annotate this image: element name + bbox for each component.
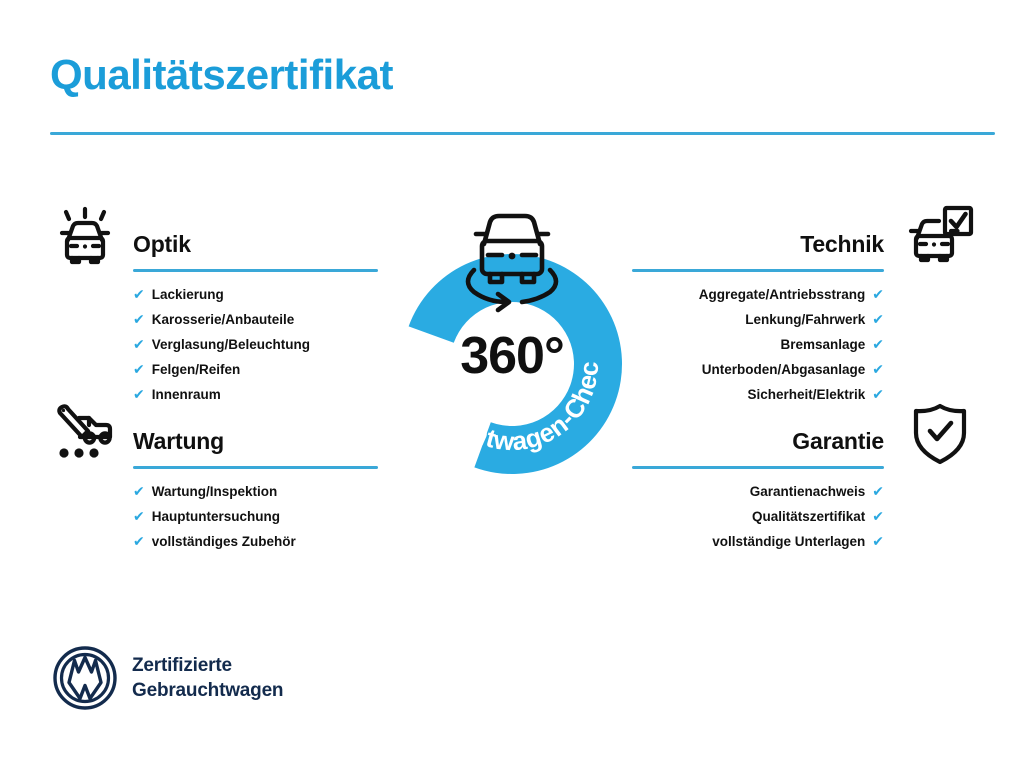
badge-number: 360°	[376, 330, 648, 382]
check-icon: ✔	[133, 529, 145, 553]
section-technik: Technik Aggregate/Antriebsstrang ✔ Lenku…	[632, 200, 977, 407]
list-item-label: vollständige Unterlagen	[712, 530, 865, 554]
section-garantie: Garantie Garantienachweis ✔ Qualitätszer…	[632, 397, 977, 554]
list-item: ✔ Verglasung/Beleuchtung	[133, 332, 378, 357]
car-service-tool-icon	[48, 397, 122, 471]
list-item: ✔ Lackierung	[133, 282, 378, 307]
list-item: ✔ Hauptuntersuchung	[133, 504, 378, 529]
volkswagen-logo	[52, 645, 118, 711]
checklist-technik: Aggregate/Antriebsstrang ✔ Lenkung/Fahrw…	[632, 272, 884, 407]
list-item: ✔ Karosserie/Anbauteile	[133, 307, 378, 332]
section-header-optik: Optik	[133, 200, 378, 272]
list-item: ✔ Wartung/Inspektion	[133, 479, 378, 504]
section-title: Wartung	[133, 430, 224, 453]
list-item-label: Karosserie/Anbauteile	[152, 308, 295, 332]
check-icon: ✔	[872, 504, 884, 528]
section-title: Optik	[133, 233, 191, 256]
certificate-page: Qualitätszertifikat	[0, 0, 1024, 768]
checklist-optik: ✔ Lackierung ✔ Karosserie/Anbauteile ✔ V…	[133, 272, 378, 407]
brand-line-1: Zertifizierte	[132, 653, 283, 678]
check-icon: ✔	[872, 307, 884, 331]
list-item-label: Aggregate/Antriebsstrang	[699, 283, 866, 307]
section-header-garantie: Garantie	[632, 397, 884, 469]
check-icon: ✔	[872, 357, 884, 381]
title-divider	[50, 132, 995, 135]
section-underline	[133, 269, 378, 272]
section-underline	[632, 269, 884, 272]
list-item: ✔ Felgen/Reifen	[133, 357, 378, 382]
check-icon: ✔	[872, 282, 884, 306]
badge-360-gebrauchtwagen-check: Gebrauchtwagen-Check 360°	[376, 196, 648, 486]
list-item: Lenkung/Fahrwerk ✔	[632, 307, 884, 332]
section-underline	[632, 466, 884, 469]
section-wartung: Wartung ✔ Wartung/Inspektion ✔ Hauptunte…	[48, 397, 393, 554]
list-item: vollständige Unterlagen ✔	[632, 529, 884, 554]
list-item: Unterboden/Abgasanlage ✔	[632, 357, 884, 382]
list-item-label: Lenkung/Fahrwerk	[745, 308, 865, 332]
check-icon: ✔	[872, 529, 884, 553]
shield-check-icon	[903, 397, 977, 471]
car-front-shine-icon	[48, 200, 122, 274]
check-icon: ✔	[872, 332, 884, 356]
list-item-label: Verglasung/Beleuchtung	[152, 333, 310, 357]
section-underline	[133, 466, 378, 469]
car-front-checkbox-icon	[903, 200, 977, 274]
list-item-label: Unterboden/Abgasanlage	[702, 358, 866, 382]
checklist-garantie: Garantienachweis ✔ Qualitätszertifikat ✔…	[632, 469, 884, 554]
check-icon: ✔	[133, 357, 145, 381]
list-item-label: Wartung/Inspektion	[152, 480, 278, 504]
check-icon: ✔	[872, 479, 884, 503]
check-icon: ✔	[133, 504, 145, 528]
section-header-wartung: Wartung	[133, 397, 378, 469]
list-item: Qualitätszertifikat ✔	[632, 504, 884, 529]
footer-brand: Zertifizierte Gebrauchtwagen	[52, 645, 283, 711]
check-icon: ✔	[133, 282, 145, 306]
page-title: Qualitätszertifikat	[50, 52, 393, 98]
list-item: ✔ vollständiges Zubehör	[133, 529, 378, 554]
list-item: Aggregate/Antriebsstrang ✔	[632, 282, 884, 307]
brand-line-2: Gebrauchtwagen	[132, 678, 283, 703]
list-item-label: Lackierung	[152, 283, 224, 307]
check-icon: ✔	[133, 479, 145, 503]
section-title: Technik	[800, 233, 884, 256]
list-item: Bremsanlage ✔	[632, 332, 884, 357]
section-optik: Optik ✔ Lackierung ✔ Karosserie/Anbautei…	[48, 200, 393, 407]
list-item-label: Hauptuntersuchung	[152, 505, 280, 529]
list-item-label: Garantienachweis	[750, 480, 866, 504]
list-item: Garantienachweis ✔	[632, 479, 884, 504]
checklist-wartung: ✔ Wartung/Inspektion ✔ Hauptuntersuchung…	[133, 469, 378, 554]
list-item-label: Qualitätszertifikat	[752, 505, 865, 529]
list-item-label: Bremsanlage	[780, 333, 865, 357]
list-item-label: Felgen/Reifen	[152, 358, 241, 382]
list-item-label: vollständiges Zubehör	[152, 530, 296, 554]
section-header-technik: Technik	[632, 200, 884, 272]
brand-text: Zertifizierte Gebrauchtwagen	[132, 653, 283, 703]
section-title: Garantie	[792, 430, 884, 453]
check-icon: ✔	[133, 332, 145, 356]
check-icon: ✔	[133, 307, 145, 331]
